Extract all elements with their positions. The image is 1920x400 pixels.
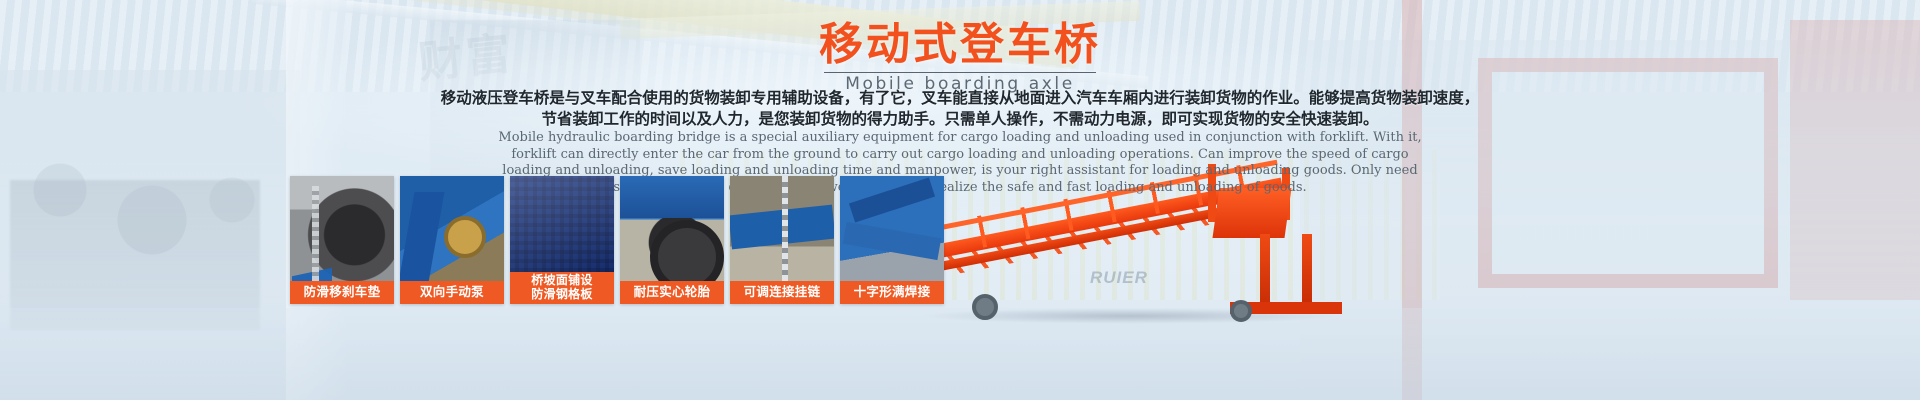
- product-watermark-text: RUIER: [1090, 268, 1148, 288]
- ramp-support-leg-left: [1260, 234, 1270, 310]
- feature-caption-4: 耐压实心轮胎: [620, 281, 724, 304]
- page-title: 移动式登车桥: [819, 22, 1101, 68]
- ramp-support-leg-right: [1302, 234, 1312, 306]
- headline-block: 移动式登车桥 Mobile boarding axle: [0, 22, 1920, 94]
- ramp-rear-wheel: [1230, 300, 1252, 322]
- feature-thumbnail-4[interactable]: 耐压实心轮胎: [620, 176, 724, 304]
- feature-caption-2: 双向手动泵: [400, 281, 504, 304]
- feature-caption-1: 防滑移刹车垫: [290, 281, 394, 304]
- feature-thumbnail-6[interactable]: 十字形满焊接: [840, 176, 944, 304]
- feature-caption-3: 桥坡面铺设 防滑钢格板: [510, 272, 614, 304]
- feature-caption-3-line-2: 防滑钢格板: [512, 288, 612, 302]
- feature-thumbnail-strip: 防滑移刹车垫 双向手动泵 桥坡面铺设 防滑钢格板 耐压实心轮胎 可调连接挂链 十…: [290, 176, 944, 304]
- feature-caption-3-line-1: 桥坡面铺设: [512, 274, 612, 288]
- mobile-boarding-ramp-product: [930, 190, 1350, 320]
- description-chinese: 移动液压登车桥是与叉车配合使用的货物装卸专用辅助设备，有了它，叉车能直接从地面进…: [0, 88, 1920, 130]
- product-banner: 财富 RUIER 移动式登车桥 Mobile boarding axle 移动液…: [0, 0, 1920, 400]
- description-chinese-line-1: 移动液压登车桥是与叉车配合使用的货物装卸专用辅助设备，有了它，叉车能直接从地面进…: [0, 88, 1920, 109]
- description-chinese-line-2: 节省装卸工作的时间以及人力，是您装卸货物的得力助手。只需单人操作，不需动力电源，…: [0, 109, 1920, 130]
- feature-thumbnail-1[interactable]: 防滑移刹车垫: [290, 176, 394, 304]
- feature-thumbnail-5[interactable]: 可调连接挂链: [730, 176, 834, 304]
- feature-thumbnail-2[interactable]: 双向手动泵: [400, 176, 504, 304]
- feature-caption-6: 十字形满焊接: [840, 281, 944, 304]
- headline-divider: [824, 72, 1096, 73]
- feature-thumbnail-3[interactable]: 桥坡面铺设 防滑钢格板: [510, 176, 614, 304]
- feature-caption-5: 可调连接挂链: [730, 281, 834, 304]
- ramp-front-wheel: [972, 294, 998, 320]
